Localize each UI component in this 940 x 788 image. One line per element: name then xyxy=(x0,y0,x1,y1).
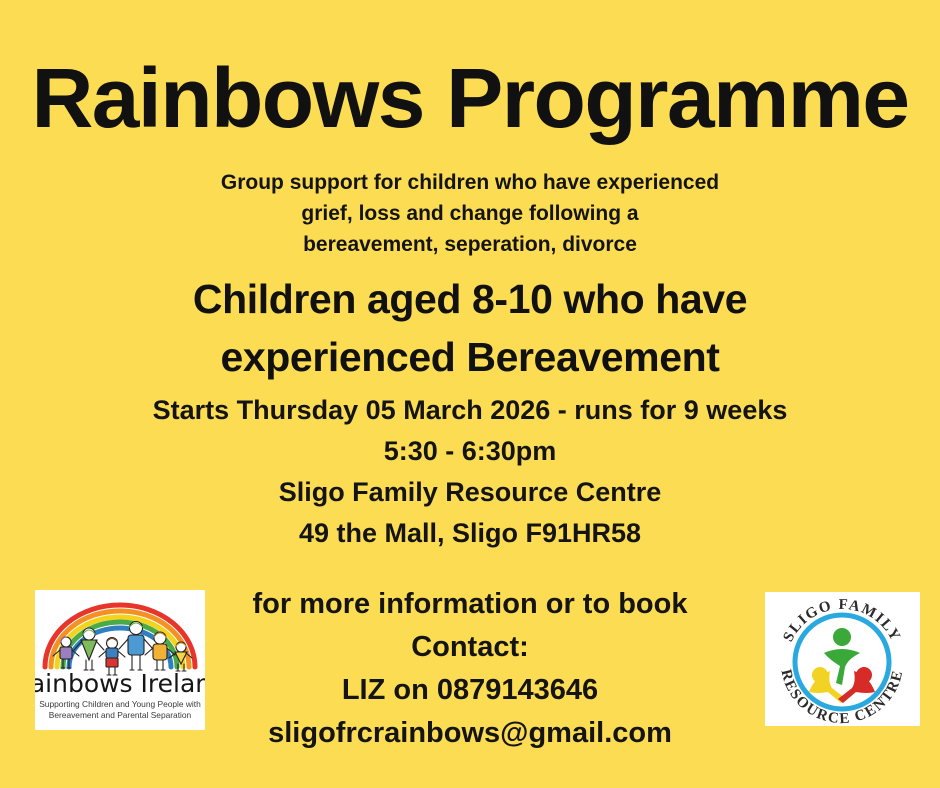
rainbows-ireland-logo: Rainbows Ireland Supporting Children and… xyxy=(35,590,205,730)
rainbows-ireland-logo-icon: Rainbows Ireland Supporting Children and… xyxy=(35,590,205,730)
audience-heading: Children aged 8-10 who have experienced … xyxy=(0,270,940,386)
poster-subtitle: Group support for children who have expe… xyxy=(0,168,940,261)
sligo-frc-logo-icon: SLIGO FAMILY RESOURCE CENTRE xyxy=(765,592,920,726)
details-venue: Sligo Family Resource Centre xyxy=(0,472,940,513)
subtitle-line-1: Group support for children who have expe… xyxy=(0,168,940,199)
rainbows-logo-tagline-line-1: Supporting Children and Young People wit… xyxy=(39,699,201,709)
rainbows-logo-tagline-line-2: Bereavement and Parental Separation xyxy=(49,710,192,720)
session-details: Starts Thursday 05 March 2026 - runs for… xyxy=(0,390,940,554)
poster-canvas: Rainbows Programme Group support for chi… xyxy=(0,0,940,788)
audience-heading-line-2: experienced Bereavement xyxy=(0,328,940,386)
rainbows-logo-name: Rainbows Ireland xyxy=(35,669,205,698)
audience-heading-line-1: Children aged 8-10 who have xyxy=(0,270,940,328)
sligo-frc-logo: SLIGO FAMILY RESOURCE CENTRE xyxy=(765,592,920,726)
details-time: 5:30 - 6:30pm xyxy=(0,431,940,472)
subtitle-line-2: grief, loss and change following a xyxy=(0,199,940,230)
details-start-date: Starts Thursday 05 March 2026 - runs for… xyxy=(0,390,940,431)
subtitle-line-3: bereavement, seperation, divorce xyxy=(0,230,940,261)
page-title: Rainbows Programme xyxy=(0,56,940,140)
details-address: 49 the Mall, Sligo F91HR58 xyxy=(0,513,940,554)
